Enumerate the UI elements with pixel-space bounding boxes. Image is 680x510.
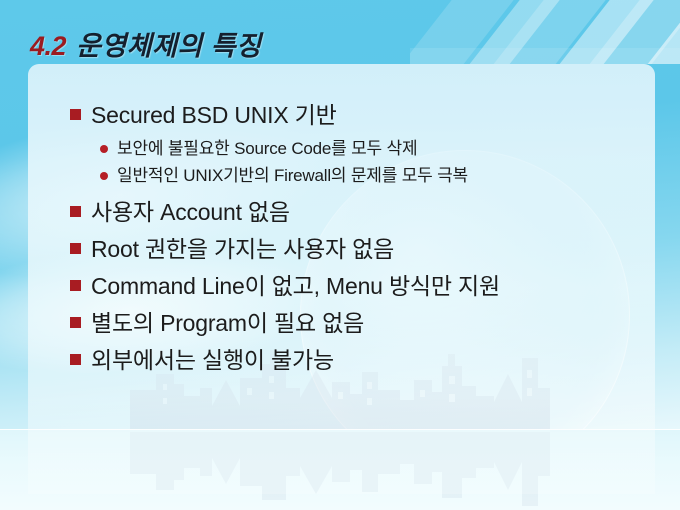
list-item: 외부에서는 실행이 불가능 [70,345,641,375]
list-item: 보안에 불필요한 Source Code를 모두 삭제 [100,137,641,161]
square-bullet-icon [70,354,81,365]
slide-title: 4.2 운영체제의 특징 [30,24,261,63]
list-item-label: 외부에서는 실행이 불가능 [91,345,334,375]
slide-title-number: 4.2 [30,31,66,62]
diagonal-stripes-decoration [410,0,680,64]
list-item-label: 보안에 불필요한 Source Code를 모두 삭제 [117,137,417,161]
list-item-label: Secured BSD UNIX 기반 [91,100,337,130]
stripe-5 [563,0,680,64]
list-item: Command Line이 없고, Menu 방식만 지원 [70,271,641,301]
list-item: Secured BSD UNIX 기반 [70,100,641,130]
content-panel: Secured BSD UNIX 기반 보안에 불필요한 Source Code… [28,64,655,494]
square-bullet-icon [70,109,81,120]
bullet-list: Secured BSD UNIX 기반 보안에 불필요한 Source Code… [70,100,641,382]
slide-title-text: 운영체제의 특징 [76,24,261,63]
square-bullet-icon [70,206,81,217]
stripe-6 [621,0,680,64]
list-item-label: 사용자 Account 없음 [91,197,290,227]
list-item-label: 별도의 Program이 필요 없음 [91,308,364,338]
list-item: 사용자 Account 없음 [70,197,641,227]
presentation-slide: 4.2 운영체제의 특징 Secured BSD UNIX 기반 보안에 불필요… [0,0,680,510]
stripe-1 [410,0,531,64]
square-bullet-icon [70,280,81,291]
stripe-4 [533,0,671,64]
square-bullet-icon [70,243,81,254]
list-item-label: 일반적인 UNIX기반의 Firewall의 문제를 모두 극복 [117,164,468,188]
stripe-2 [443,0,577,64]
list-item-label: Command Line이 없고, Menu 방식만 지원 [91,271,500,301]
list-item: Root 권한을 가지는 사용자 없음 [70,234,641,264]
stripe-3 [467,0,623,64]
round-bullet-icon [100,145,108,153]
list-item-label: Root 권한을 가지는 사용자 없음 [91,234,394,264]
round-bullet-icon [100,172,108,180]
list-item: 별도의 Program이 필요 없음 [70,308,641,338]
stripe-band [410,48,680,64]
square-bullet-icon [70,317,81,328]
list-item: 일반적인 UNIX기반의 Firewall의 문제를 모두 극복 [100,164,641,188]
